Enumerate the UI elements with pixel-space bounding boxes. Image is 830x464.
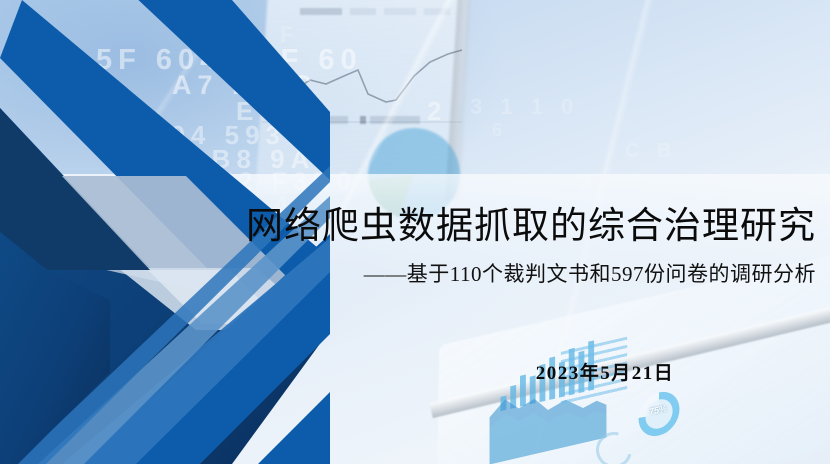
page-subtitle: ——基于110个裁判文书和597份问卷的调研分析 [246, 262, 816, 287]
page-title: 网络爬虫数据抓取的综合治理研究 [216, 206, 816, 247]
presentation-date: 2023年5月21日 [400, 358, 810, 385]
presentation-title-slide: 4 581 F5F 604 15F 60A7 B8 CE C0604 5937 … [0, 0, 830, 464]
